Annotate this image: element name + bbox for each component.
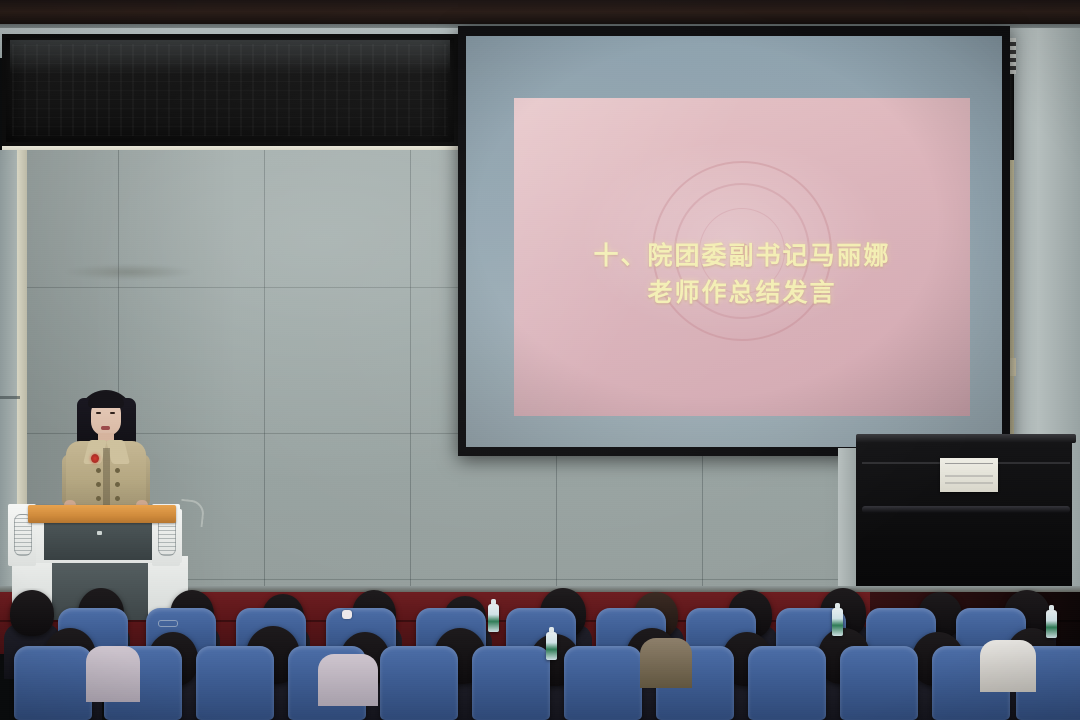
audience-person-shoulders [318, 654, 378, 706]
projection-screen-surface: 十、院团委副书记马丽娜 老师作总结发言 [466, 36, 1002, 447]
coat-button [115, 496, 120, 501]
lectern-wood-top [28, 505, 176, 523]
auditorium-seat [472, 646, 550, 720]
coat-button [96, 496, 101, 501]
coat-button [96, 468, 101, 473]
slide-title-line-2: 老师作总结发言 [540, 275, 944, 313]
presenter-eye-right [110, 412, 115, 414]
piano-label-text-lines [945, 463, 993, 487]
wall-smudge [64, 264, 194, 280]
slide-title: 十、院团委副书记马丽娜 老师作总结发言 [514, 238, 970, 313]
presenter-eye-left [96, 412, 101, 414]
auditorium-seat [840, 646, 918, 720]
dark-wall-panel [2, 34, 458, 146]
audience-person-shoulders [980, 640, 1036, 692]
water-bottle [1046, 610, 1057, 638]
auditorium-seat [196, 646, 274, 720]
water-bottle [546, 632, 557, 660]
piano-notice-label [940, 458, 998, 492]
auditorium-seat [564, 646, 642, 720]
lectern-indicator-light [97, 531, 102, 535]
auditorium-seat [14, 646, 92, 720]
projected-slide: 十、院团委副书记马丽娜 老师作总结发言 [514, 98, 970, 416]
presenter-lapel-shadow [103, 448, 110, 506]
auditorium-seat [748, 646, 826, 720]
projection-screen: 十、院团委副书记马丽娜 老师作总结发言 [458, 26, 1010, 456]
red-flower-badge-icon [91, 454, 99, 463]
auditorium-seat [380, 646, 458, 720]
coat-button [115, 482, 120, 487]
audience-person-shoulders [86, 646, 140, 702]
presenter-mouth [101, 426, 110, 430]
audience-person-head [10, 590, 54, 636]
water-bottle [832, 608, 843, 636]
eyeglasses-icon [158, 620, 178, 627]
slide-title-line-1: 十、院团委副书记马丽娜 [540, 238, 944, 276]
water-bottle [488, 604, 499, 632]
coat-button [96, 482, 101, 487]
presenter-hair-fringe [88, 392, 124, 408]
audience-person-shoulders [640, 638, 692, 688]
hair-clip [342, 610, 352, 619]
coat-button [115, 468, 120, 473]
piano-keyboard-lid [862, 506, 1070, 513]
piano-top-lid [856, 434, 1076, 443]
audience-area [0, 588, 1080, 720]
ceiling [0, 0, 1080, 26]
presenter [60, 388, 152, 510]
auditorium-photo: 十、院团委副书记马丽娜 老师作总结发言 [0, 0, 1080, 720]
left-jamb-mark [0, 396, 20, 399]
